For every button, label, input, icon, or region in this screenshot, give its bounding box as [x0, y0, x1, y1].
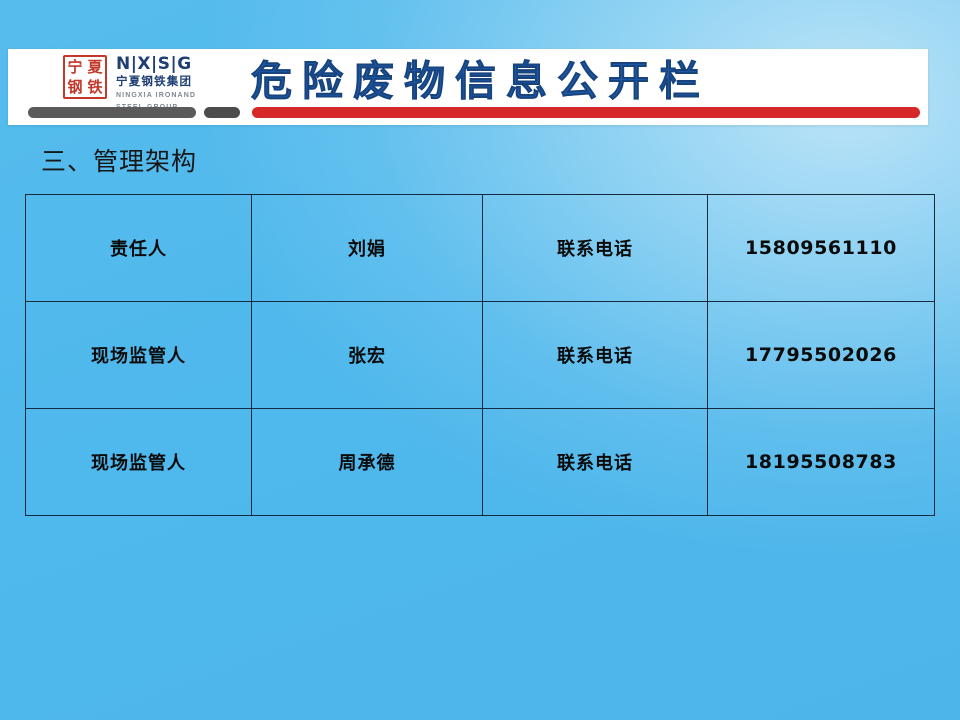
brand-english-line-1: NINGXIA IRONAND [116, 91, 196, 100]
header-banner-inner: 宁 夏 钢 铁 N|X|S|G 宁夏钢铁集团 NINGXIA IRONAND S… [8, 49, 928, 125]
cell-phone-number: 17795502026 [708, 302, 935, 409]
table-body: 责任人 刘娟 联系电话 15809561110 现场监管人 张宏 联系电话 17… [26, 195, 935, 516]
cell-name: 刘娟 [252, 195, 483, 302]
brand-chinese-name: 宁夏钢铁集团 [116, 75, 196, 89]
company-logo-text: N|X|S|G 宁夏钢铁集团 NINGXIA IRONAND STEEL GRO… [116, 55, 196, 112]
seal-char-3: 钢 [65, 77, 85, 97]
cell-role: 现场监管人 [26, 409, 252, 516]
decor-bar-gray-short [204, 107, 240, 118]
cell-phone-number: 15809561110 [708, 195, 935, 302]
table-row: 现场监管人 张宏 联系电话 17795502026 [26, 302, 935, 409]
decor-bar-gray-long [28, 107, 196, 118]
cell-name: 周承德 [252, 409, 483, 516]
brand-latin-name: N|X|S|G [116, 56, 196, 73]
cell-phone-label: 联系电话 [483, 195, 708, 302]
decor-bar-red [252, 107, 920, 118]
table-row: 责任人 刘娟 联系电话 15809561110 [26, 195, 935, 302]
cell-name: 张宏 [252, 302, 483, 409]
seal-char-1: 宁 [65, 57, 85, 77]
company-logo: 宁 夏 钢 铁 N|X|S|G 宁夏钢铁集团 NINGXIA IRONAND S… [63, 55, 196, 112]
cell-phone-number: 18195508783 [708, 409, 935, 516]
header-banner: 宁 夏 钢 铁 N|X|S|G 宁夏钢铁集团 NINGXIA IRONAND S… [8, 49, 928, 125]
cell-phone-label: 联系电话 [483, 409, 708, 516]
seal-char-4: 铁 [85, 77, 105, 97]
cell-phone-label: 联系电话 [483, 302, 708, 409]
management-structure-table: 责任人 刘娟 联系电话 15809561110 现场监管人 张宏 联系电话 17… [25, 194, 935, 516]
table-row: 现场监管人 周承德 联系电话 18195508783 [26, 409, 935, 516]
banner-title: 危险废物信息公开栏 [251, 57, 710, 105]
cell-role: 责任人 [26, 195, 252, 302]
company-seal-icon: 宁 夏 钢 铁 [63, 55, 107, 99]
slide-canvas: 宁 夏 钢 铁 N|X|S|G 宁夏钢铁集团 NINGXIA IRONAND S… [0, 0, 960, 720]
cell-role: 现场监管人 [26, 302, 252, 409]
seal-char-2: 夏 [85, 57, 105, 77]
section-heading: 三、管理架构 [41, 142, 197, 178]
